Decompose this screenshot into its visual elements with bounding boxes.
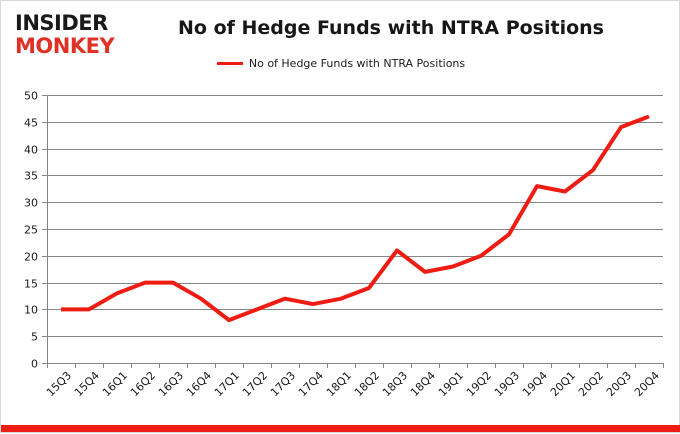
x-axis-tick-label: 18Q4	[408, 369, 438, 399]
chart-page: INSIDER MONKEY No of Hedge Funds with NT…	[0, 0, 680, 433]
chart-svg: 05101520253035404550 15Q315Q416Q116Q216Q…	[1, 1, 680, 434]
x-axis-tick-label: 16Q3	[156, 369, 186, 399]
y-axis-tick-label: 20	[24, 251, 38, 264]
x-axis-tick-label: 17Q2	[240, 369, 270, 399]
x-axis-tick-label: 18Q3	[380, 369, 410, 399]
x-axis-tick-label: 17Q3	[268, 369, 298, 399]
y-axis-tick-label: 30	[24, 197, 38, 210]
y-axis-tick-label: 35	[24, 170, 38, 183]
x-axis-tick-label: 15Q3	[44, 369, 74, 399]
x-axis-tick-label: 20Q1	[548, 369, 578, 399]
y-axis-tick-label: 25	[24, 224, 38, 237]
gridlines-group	[42, 96, 663, 364]
x-axis-tick-label: 19Q1	[436, 369, 466, 399]
y-axis-tick-label: 15	[24, 278, 38, 291]
x-axis-tick-label: 18Q1	[324, 369, 354, 399]
y-axis-tick-label: 50	[24, 90, 38, 103]
x-axis-tick-label: 20Q3	[604, 369, 634, 399]
x-axis-tick-label: 20Q2	[576, 369, 606, 399]
x-axis-tick-label: 17Q4	[296, 369, 326, 399]
x-axis-tick-label: 19Q3	[492, 369, 522, 399]
x-axis-tick-label: 16Q1	[100, 369, 130, 399]
y-axis-tick-label: 0	[31, 358, 38, 371]
y-axis-labels-group: 05101520253035404550	[24, 90, 38, 371]
series-group	[61, 116, 649, 320]
x-axis-tick-label: 16Q4	[184, 369, 214, 399]
x-axis-tick-label: 15Q4	[72, 369, 102, 399]
series-line	[61, 116, 649, 320]
y-axis-tick-label: 40	[24, 144, 38, 157]
x-axis-tick-label: 17Q1	[212, 369, 242, 399]
x-axis-tick-label: 20Q4	[632, 369, 662, 399]
y-axis-tick-label: 5	[31, 331, 38, 344]
y-axis-tick-label: 10	[24, 304, 38, 317]
x-axis-tick-label: 18Q2	[352, 369, 382, 399]
x-axis-tick-label: 19Q2	[464, 369, 494, 399]
x-axis-tick-label: 16Q2	[128, 369, 158, 399]
y-axis-tick-label: 45	[24, 117, 38, 130]
x-axis-labels-group: 15Q315Q416Q116Q216Q316Q417Q117Q217Q317Q4…	[44, 369, 662, 399]
bottom-accent-bar	[1, 425, 680, 432]
plot-area: 05101520253035404550 15Q315Q416Q116Q216Q…	[1, 1, 680, 434]
x-axis-tick-label: 19Q4	[520, 369, 550, 399]
